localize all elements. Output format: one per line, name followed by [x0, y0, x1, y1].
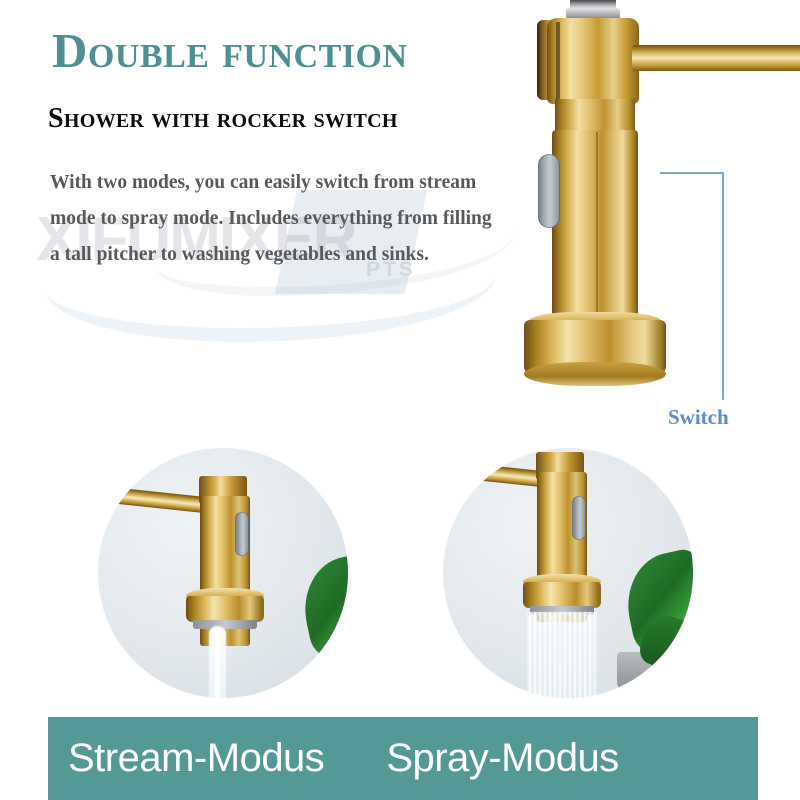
faucet-head-seam	[556, 22, 560, 100]
inset-aerator	[193, 620, 257, 629]
water-spray-veil	[527, 612, 597, 698]
rocker-switch-icon[interactable]	[572, 496, 586, 540]
body-paragraph: With two modes, you can easily switch fr…	[50, 165, 500, 273]
callout-leader-horizontal	[660, 172, 724, 174]
mode-label-spray: Spray-Modus	[386, 736, 618, 781]
rocker-switch-icon[interactable]	[538, 154, 560, 228]
callout-leader-vertical	[722, 172, 724, 400]
faucet-arm	[632, 45, 800, 71]
water-stream-highlight	[215, 630, 220, 698]
faucet-barrel-seam	[596, 132, 598, 316]
inset-spray-mode	[443, 448, 693, 698]
faucet-barrel	[552, 130, 638, 318]
headline: Double function	[52, 22, 408, 79]
mode-label-bar: Stream-Modus Spray-Modus	[48, 717, 758, 800]
leaf-icon	[295, 551, 348, 662]
subheadline: Shower with rocker switch	[48, 103, 398, 135]
inset-spray-head	[523, 582, 601, 608]
rocker-switch-icon[interactable]	[235, 512, 249, 556]
faucet-head	[547, 18, 639, 104]
faucet-hero-image	[500, 0, 800, 394]
callout-label-switch: Switch	[668, 405, 729, 430]
mode-label-stream: Stream-Modus	[68, 736, 324, 781]
product-feature-image: XIFUMIXER PTS Double function Shower wit…	[0, 0, 800, 800]
faucet-base-rim	[524, 362, 666, 386]
inset-spray-head	[186, 596, 264, 622]
inset-stream-mode	[98, 448, 348, 698]
